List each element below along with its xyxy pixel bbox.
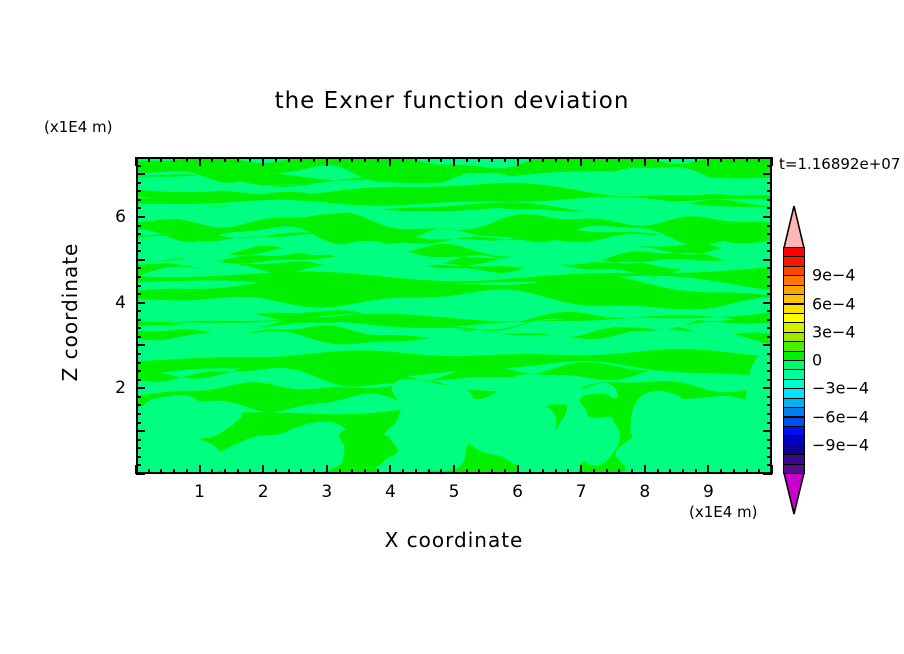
x-tick-label: 3	[321, 482, 332, 502]
y-tick-mark	[136, 207, 141, 209]
x-tick-mark	[351, 157, 353, 162]
y-tick-mark	[767, 182, 772, 184]
y-tick-mark	[136, 242, 141, 244]
x-tick-mark	[160, 469, 162, 474]
y-tick-mark	[767, 353, 772, 355]
y-tick-mark	[763, 473, 772, 475]
y-tick-mark	[136, 165, 141, 167]
x-tick-mark	[300, 157, 302, 162]
y-tick-label: 6	[94, 207, 126, 227]
x-tick-mark	[186, 157, 188, 162]
x-tick-mark	[364, 157, 366, 162]
x-tick-mark	[466, 157, 468, 162]
x-tick-mark	[644, 157, 646, 166]
colorbar-tick-label: −9e−4	[812, 435, 869, 454]
y-tick-mark	[136, 259, 145, 261]
contour-field	[138, 159, 770, 472]
x-tick-mark	[288, 157, 290, 162]
x-tick-mark	[237, 157, 239, 162]
x-tick-mark	[224, 469, 226, 474]
x-tick-mark	[402, 469, 404, 474]
x-tick-mark	[669, 469, 671, 474]
y-tick-mark	[136, 370, 141, 372]
colorbar-tick-label: 6e−4	[812, 294, 856, 313]
x-tick-mark	[733, 469, 735, 474]
x-tick-mark	[313, 469, 315, 474]
x-tick-mark	[606, 157, 608, 162]
page-title: the Exner function deviation	[0, 88, 904, 114]
y-tick-mark	[136, 387, 145, 389]
y-tick-mark	[767, 225, 772, 227]
x-tick-mark	[237, 469, 239, 474]
x-tick-mark	[211, 469, 213, 474]
x-tick-mark	[631, 469, 633, 474]
x-tick-mark	[199, 157, 201, 166]
y-tick-mark	[767, 276, 772, 278]
x-tick-mark	[249, 157, 251, 162]
x-tick-mark	[478, 157, 480, 162]
x-tick-mark	[517, 157, 519, 166]
y-tick-mark	[136, 233, 141, 235]
y-axis-title: Z coordinate	[58, 212, 82, 412]
y-tick-mark	[136, 190, 141, 192]
colorbar-tick-label: 0	[812, 351, 822, 370]
x-tick-label: 1	[194, 482, 205, 502]
y-tick-mark	[136, 199, 141, 201]
x-tick-mark	[746, 157, 748, 162]
x-tick-mark	[529, 469, 531, 474]
x-tick-mark	[313, 157, 315, 162]
x-tick-mark	[288, 469, 290, 474]
y-tick-mark	[767, 285, 772, 287]
y-tick-mark	[136, 422, 141, 424]
x-tick-mark	[326, 157, 328, 166]
y-tick-mark	[136, 285, 141, 287]
y-tick-mark	[763, 344, 772, 346]
x-tick-mark	[262, 465, 264, 474]
y-tick-mark	[763, 387, 772, 389]
y-tick-mark	[767, 413, 772, 415]
y-tick-mark	[136, 456, 141, 458]
y-tick-mark	[763, 430, 772, 432]
x-tick-mark	[695, 469, 697, 474]
x-tick-mark	[199, 465, 201, 474]
y-tick-label: 2	[94, 378, 126, 398]
y-tick-mark	[136, 404, 141, 406]
colorbar-tick-label: 9e−4	[812, 266, 856, 285]
y-tick-mark	[767, 447, 772, 449]
y-tick-mark	[767, 190, 772, 192]
x-tick-mark	[491, 469, 493, 474]
x-tick-mark	[517, 465, 519, 474]
y-tick-mark	[767, 456, 772, 458]
x-tick-mark	[351, 469, 353, 474]
x-tick-mark	[580, 465, 582, 474]
y-tick-mark	[767, 267, 772, 269]
x-tick-mark	[555, 157, 557, 162]
x-tick-label: 6	[512, 482, 523, 502]
y-tick-mark	[763, 173, 772, 175]
x-tick-mark	[542, 157, 544, 162]
y-tick-mark	[136, 182, 141, 184]
x-tick-mark	[618, 157, 620, 162]
x-tick-mark	[453, 157, 455, 166]
x-tick-mark	[707, 465, 709, 474]
x-tick-mark	[300, 469, 302, 474]
x-tick-mark	[720, 157, 722, 162]
x-tick-mark	[593, 157, 595, 162]
x-tick-mark	[682, 469, 684, 474]
y-tick-mark	[767, 327, 772, 329]
x-tick-mark	[657, 157, 659, 162]
x-tick-mark	[542, 469, 544, 474]
x-tick-label: 8	[639, 482, 650, 502]
y-tick-mark	[136, 430, 145, 432]
x-tick-mark	[453, 465, 455, 474]
y-axis-units-label: (x1E4 m)	[44, 118, 113, 136]
x-tick-mark	[682, 157, 684, 162]
y-tick-mark	[136, 413, 141, 415]
x-tick-mark	[733, 157, 735, 162]
colorbar-under-arrow	[783, 473, 805, 515]
x-tick-mark	[631, 157, 633, 162]
x-tick-mark	[160, 157, 162, 162]
y-tick-mark	[136, 267, 141, 269]
x-tick-mark	[746, 469, 748, 474]
y-tick-mark	[763, 216, 772, 218]
x-tick-mark	[707, 157, 709, 166]
x-tick-mark	[186, 469, 188, 474]
y-tick-mark	[767, 165, 772, 167]
x-tick-label: 7	[576, 482, 587, 502]
y-tick-mark	[136, 344, 145, 346]
y-tick-mark	[763, 259, 772, 261]
colorbar-tick-label: −6e−4	[812, 407, 869, 426]
x-tick-mark	[529, 157, 531, 162]
y-tick-mark	[767, 293, 772, 295]
y-tick-mark	[136, 353, 141, 355]
x-tick-mark	[720, 469, 722, 474]
x-tick-mark	[148, 469, 150, 474]
figure-canvas: the Exner function deviation (x1E4 m) t=…	[0, 0, 904, 654]
y-tick-mark	[136, 293, 141, 295]
x-tick-mark	[364, 469, 366, 474]
y-tick-mark	[767, 362, 772, 364]
x-axis-title: X coordinate	[136, 528, 772, 552]
y-tick-mark	[767, 464, 772, 466]
y-tick-mark	[136, 173, 145, 175]
y-tick-mark	[136, 362, 141, 364]
y-tick-mark	[767, 199, 772, 201]
y-tick-mark	[136, 302, 145, 304]
colorbar-tick-label: 3e−4	[812, 322, 856, 341]
x-tick-mark	[440, 469, 442, 474]
x-tick-mark	[249, 469, 251, 474]
x-tick-mark	[758, 469, 760, 474]
x-tick-mark	[275, 157, 277, 162]
x-tick-mark	[389, 465, 391, 474]
y-tick-mark	[767, 370, 772, 372]
x-tick-mark	[415, 469, 417, 474]
y-tick-mark	[136, 396, 141, 398]
x-tick-mark	[567, 469, 569, 474]
x-tick-mark	[669, 157, 671, 162]
x-tick-mark	[148, 157, 150, 162]
y-tick-mark	[767, 396, 772, 398]
y-tick-mark	[136, 225, 141, 227]
x-tick-mark	[644, 465, 646, 474]
y-tick-mark	[767, 242, 772, 244]
y-tick-mark	[136, 473, 145, 475]
y-tick-mark	[763, 302, 772, 304]
x-tick-mark	[275, 469, 277, 474]
x-tick-mark	[555, 469, 557, 474]
y-tick-mark	[767, 379, 772, 381]
colorbar-over-arrow	[783, 205, 805, 249]
x-tick-label: 9	[703, 482, 714, 502]
y-tick-label: 4	[94, 293, 126, 313]
x-tick-mark	[466, 469, 468, 474]
x-tick-mark	[211, 157, 213, 162]
colorbar	[783, 205, 805, 515]
x-tick-mark	[173, 469, 175, 474]
x-tick-mark	[758, 157, 760, 162]
x-tick-label: 4	[385, 482, 396, 502]
x-tick-mark	[173, 157, 175, 162]
y-tick-mark	[767, 207, 772, 209]
y-tick-mark	[136, 250, 141, 252]
y-tick-mark	[767, 404, 772, 406]
x-tick-mark	[504, 157, 506, 162]
x-tick-mark	[504, 469, 506, 474]
x-tick-mark	[224, 157, 226, 162]
y-tick-mark	[136, 216, 145, 218]
y-tick-mark	[136, 464, 141, 466]
x-tick-mark	[478, 469, 480, 474]
y-tick-mark	[136, 327, 141, 329]
x-tick-mark	[402, 157, 404, 162]
y-tick-mark	[767, 319, 772, 321]
y-tick-mark	[136, 447, 141, 449]
x-axis-units-label: (x1E4 m)	[689, 503, 758, 521]
x-tick-mark	[580, 157, 582, 166]
y-tick-mark	[767, 422, 772, 424]
x-tick-mark	[326, 465, 328, 474]
x-tick-mark	[606, 469, 608, 474]
plot-area	[136, 157, 772, 474]
y-tick-mark	[136, 439, 141, 441]
x-tick-mark	[491, 157, 493, 162]
y-tick-mark	[136, 336, 141, 338]
x-tick-mark	[428, 157, 430, 162]
x-tick-mark	[657, 469, 659, 474]
y-tick-mark	[767, 336, 772, 338]
y-tick-mark	[767, 250, 772, 252]
y-tick-mark	[136, 276, 141, 278]
x-tick-mark	[440, 157, 442, 162]
x-tick-mark	[695, 157, 697, 162]
x-tick-mark	[618, 469, 620, 474]
x-tick-mark	[567, 157, 569, 162]
colorbar-tick-label: −3e−4	[812, 379, 869, 398]
x-tick-label: 5	[449, 482, 460, 502]
time-annotation: t=1.16892e+07	[779, 155, 900, 173]
x-tick-mark	[389, 157, 391, 166]
y-tick-mark	[136, 379, 141, 381]
y-tick-mark	[136, 319, 141, 321]
y-tick-mark	[767, 233, 772, 235]
x-tick-mark	[593, 469, 595, 474]
y-tick-mark	[767, 310, 772, 312]
x-tick-mark	[339, 157, 341, 162]
x-tick-label: 2	[258, 482, 269, 502]
x-tick-mark	[377, 469, 379, 474]
y-tick-mark	[136, 310, 141, 312]
x-tick-mark	[262, 157, 264, 166]
x-tick-mark	[339, 469, 341, 474]
x-tick-mark	[415, 157, 417, 162]
x-tick-mark	[428, 469, 430, 474]
x-tick-mark	[377, 157, 379, 162]
y-tick-mark	[767, 439, 772, 441]
